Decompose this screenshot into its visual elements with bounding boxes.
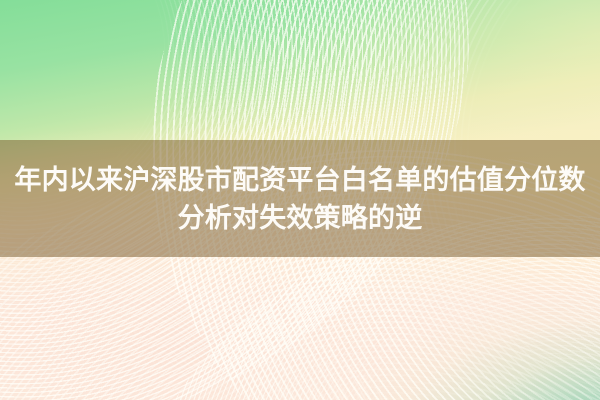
banner-title: 年内以来沪深股市配资平台白名单的估值分位数分析对失效策略的逆	[0, 161, 600, 237]
decorative-title-banner: 年内以来沪深股市配资平台白名单的估值分位数分析对失效策略的逆	[0, 0, 600, 400]
title-overlay-band: 年内以来沪深股市配资平台白名单的估值分位数分析对失效策略的逆	[0, 140, 600, 257]
arc-lines-bottom-left-texture	[0, 250, 480, 400]
